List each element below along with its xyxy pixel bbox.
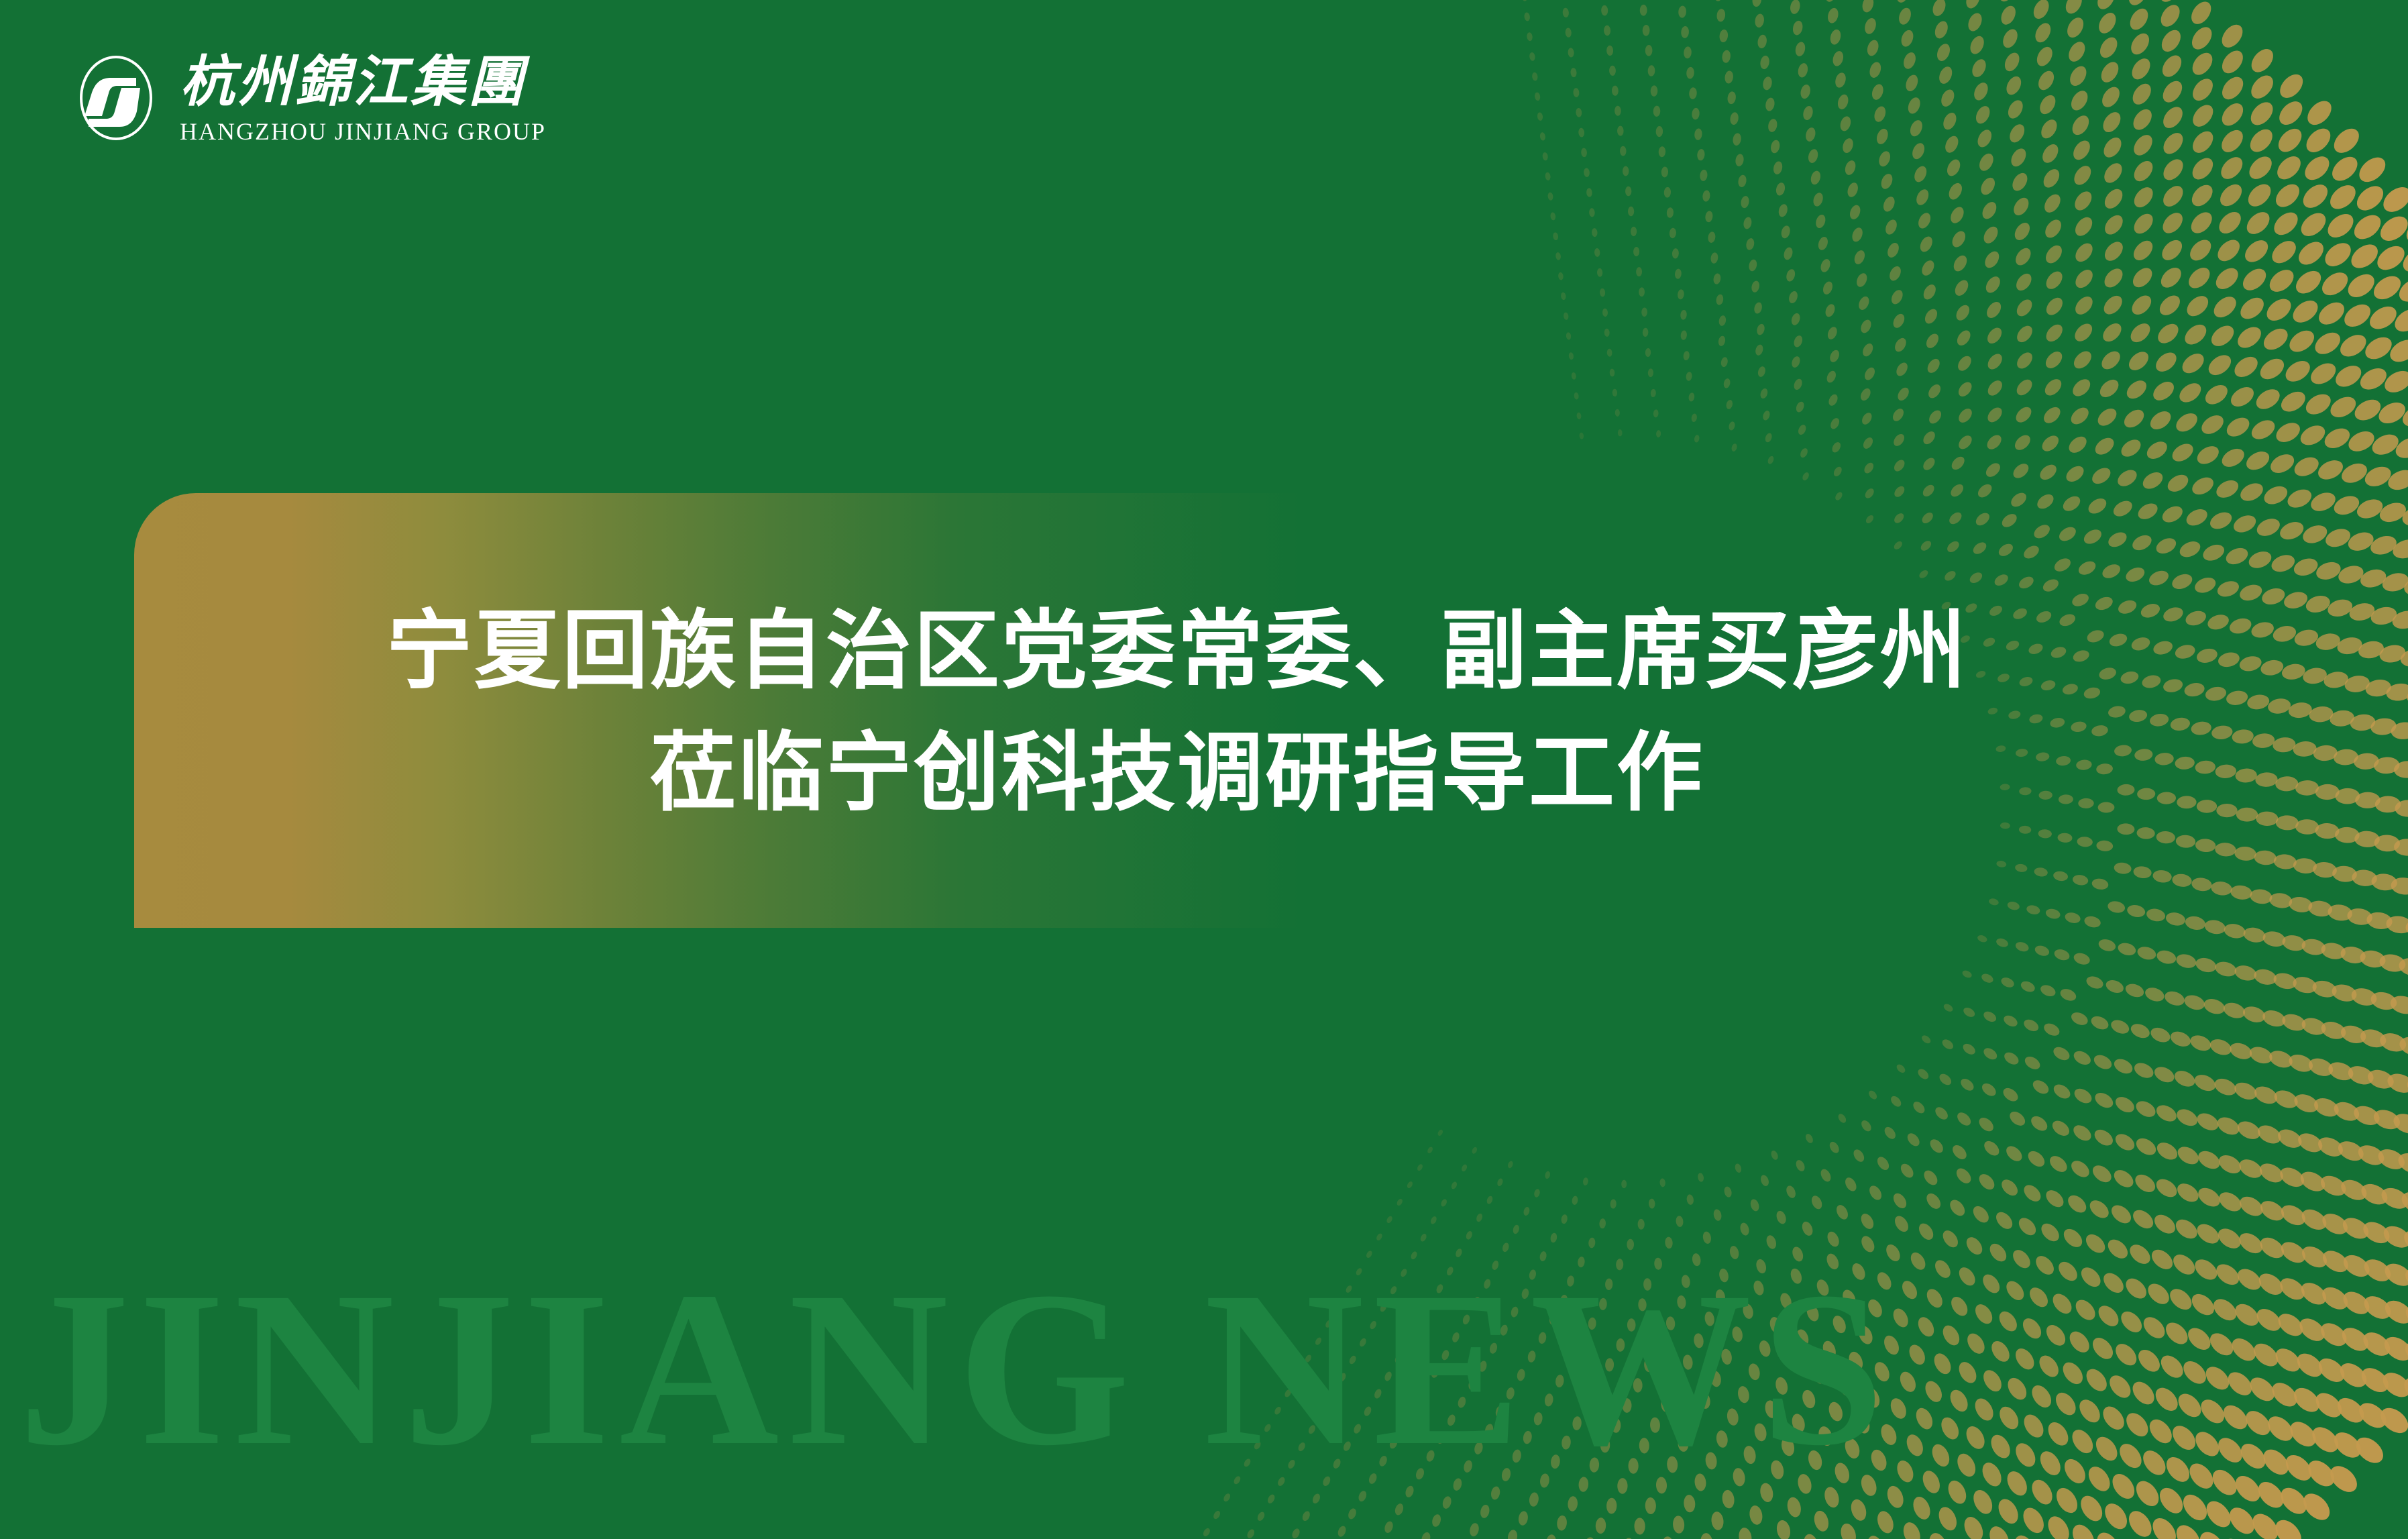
brand-logo: 杭州錦江集團 HANGZHOU JINJIANG GROUP xyxy=(72,52,546,144)
slide-canvas: JINJIANG NEWS 杭州錦江集團 HANGZHOU JINJIANG G… xyxy=(0,0,2408,1539)
brand-name-chinese: 杭州錦江集團 xyxy=(180,55,546,110)
jinjiang-monogram-icon xyxy=(72,54,160,142)
watermark-text: JINJIANG NEWS xyxy=(19,1259,1894,1480)
brand-name-english: HANGZHOU JINJIANG GROUP xyxy=(180,119,546,144)
page-title-line-1: 宁夏回族自治区党委常委、副主席买彦州 xyxy=(134,590,2220,712)
brand-wordmark: 杭州錦江集團 HANGZHOU JINJIANG GROUP xyxy=(180,52,546,144)
page-title-line-2: 莅临宁创科技调研指导工作 xyxy=(134,712,2220,835)
page-title: 宁夏回族自治区党委常委、副主席买彦州 莅临宁创科技调研指导工作 xyxy=(134,590,2220,835)
